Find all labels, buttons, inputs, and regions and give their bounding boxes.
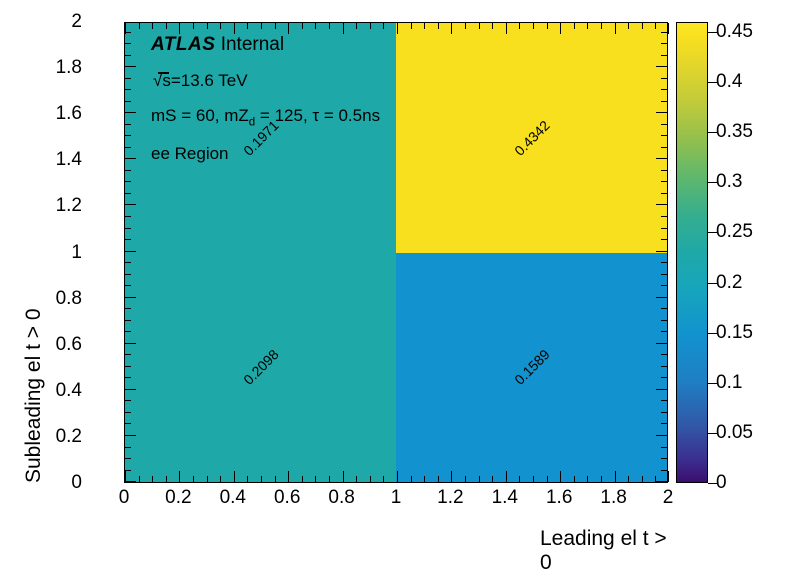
y-tick-right-minor: [661, 55, 667, 56]
x-tick-minor: [601, 476, 602, 482]
y-tick-right-minor: [661, 320, 667, 321]
x-tick-label: 0.8: [328, 487, 354, 509]
atlas-status: Internal: [221, 34, 284, 55]
y-tick-minor: [125, 193, 131, 194]
y-tick-right-minor: [661, 170, 667, 171]
y-tick-right-minor: [661, 43, 667, 44]
x-tick-minor: [166, 476, 167, 482]
x-tick-top-minor: [247, 23, 248, 29]
x-tick-minor: [329, 476, 330, 482]
y-tick-right-minor: [661, 228, 667, 229]
y-tick-label: 0.2: [56, 426, 82, 448]
x-tick-top-minor: [166, 23, 167, 29]
colorbar-tick-label: 0.05: [716, 422, 753, 444]
y-tick-minor: [125, 308, 131, 309]
y-tick-minor: [125, 447, 131, 448]
chart-canvas: Subleading el t > 0 0 0.2 0.4 0.6 0.8 1 …: [0, 0, 796, 572]
x-tick-top-minor: [193, 23, 194, 29]
x-tick-label: 1.8: [600, 487, 626, 509]
x-tick-label: 2: [663, 487, 674, 509]
y-tick-major: [125, 251, 136, 252]
y-tick-right-major: [656, 204, 667, 205]
y-tick-right-major: [656, 112, 667, 113]
y-tick-major: [125, 343, 136, 344]
x-tick-minor: [383, 476, 384, 482]
x-tick-minor: [465, 476, 466, 482]
x-tick-minor: [152, 476, 153, 482]
y-tick-minor: [125, 124, 131, 125]
y-tick-minor: [125, 366, 131, 367]
x-tick-minor: [533, 476, 534, 482]
y-tick-minor: [125, 400, 131, 401]
y-tick-minor: [125, 320, 131, 321]
x-tick-top-major: [560, 23, 561, 34]
y-tick-right-major: [656, 66, 667, 67]
signal-model-prefix: mS = 60, mZ: [151, 106, 249, 125]
x-tick-top-major: [668, 23, 669, 34]
y-tick-label: 1.8: [56, 57, 82, 79]
signal-model-rest: = 125, τ = 0.5ns: [255, 106, 380, 125]
y-tick-right-minor: [661, 216, 667, 217]
y-tick-right-minor: [661, 308, 667, 309]
y-tick-minor: [125, 412, 131, 413]
x-tick-minor: [247, 476, 248, 482]
x-tick-major: [615, 471, 616, 482]
x-tick-top-minor: [139, 23, 140, 29]
x-tick-top-minor: [261, 23, 262, 29]
signal-model-label: mS = 60, mZd = 125, τ = 0.5ns: [151, 107, 531, 129]
y-tick-minor: [125, 101, 131, 102]
plot-frame: 0.1971 0.4342 0.2098 0.1589 ATLAS Intern…: [124, 22, 668, 483]
y-tick-major: [125, 481, 136, 482]
y-tick-label: 1.6: [56, 103, 82, 125]
x-tick-top-major: [288, 23, 289, 34]
y-tick-minor: [125, 135, 131, 136]
y-tick-minor: [125, 228, 131, 229]
x-tick-top-minor: [152, 23, 153, 29]
y-tick-minor: [125, 377, 131, 378]
colorbar-tick-label: 0.3: [716, 171, 742, 193]
colorbar-tick-label: 0: [716, 472, 727, 494]
y-tick-right-major: [656, 481, 667, 482]
x-tick-minor: [519, 476, 520, 482]
x-tick-minor: [220, 476, 221, 482]
y-tick-minor: [125, 216, 131, 217]
y-tick-minor: [125, 181, 131, 182]
y-tick-minor: [125, 78, 131, 79]
y-tick-right-minor: [661, 331, 667, 332]
colorbar-tick-label: 0.2: [716, 272, 742, 294]
x-tick-top-minor: [302, 23, 303, 29]
x-tick-top-major: [234, 23, 235, 34]
x-tick-top-major: [615, 23, 616, 34]
x-tick-major: [288, 471, 289, 482]
colorbar-gradient: [677, 23, 707, 482]
heatmap-cell-bottom-right[interactable]: 0.1589: [396, 253, 667, 483]
y-tick-major: [125, 112, 136, 113]
x-tick-top-major: [397, 23, 398, 34]
y-tick-right-minor: [661, 377, 667, 378]
y-tick-right-minor: [661, 366, 667, 367]
y-tick-label: 0: [71, 472, 82, 494]
x-tick-minor: [356, 476, 357, 482]
x-tick-minor: [574, 476, 575, 482]
x-tick-top-minor: [424, 23, 425, 29]
x-tick-top-minor: [207, 23, 208, 29]
x-tick-major: [234, 471, 235, 482]
y-tick-right-minor: [661, 181, 667, 182]
y-tick-minor: [125, 331, 131, 332]
x-tick-minor: [642, 476, 643, 482]
colorbar-tick-label: 0.15: [716, 322, 753, 344]
x-tick-minor: [370, 476, 371, 482]
y-tick-major: [125, 158, 136, 159]
y-tick-minor: [125, 55, 131, 56]
y-tick-minor: [125, 239, 131, 240]
y-tick-label: 1: [71, 242, 82, 264]
y-tick-major: [125, 22, 136, 23]
x-tick-minor: [261, 476, 262, 482]
x-tick-minor: [302, 476, 303, 482]
y-tick-right-minor: [661, 400, 667, 401]
x-tick-top-minor: [465, 23, 466, 29]
y-tick-right-minor: [661, 89, 667, 90]
y-tick-minor: [125, 43, 131, 44]
y-tick-right-minor: [661, 135, 667, 136]
x-tick-minor: [315, 476, 316, 482]
heatmap-cell-value: 0.2098: [240, 346, 282, 388]
y-tick-right-minor: [661, 274, 667, 275]
x-tick-top-major: [451, 23, 452, 34]
y-tick-major: [125, 389, 136, 390]
annotation-block: ATLAS Internal √s=13.6 TeV mS = 60, mZd …: [151, 34, 531, 179]
y-tick-label: 0.8: [56, 288, 82, 310]
x-tick-label: 0.6: [274, 487, 300, 509]
y-tick-right-minor: [661, 423, 667, 424]
x-tick-major: [560, 471, 561, 482]
x-tick-minor: [193, 476, 194, 482]
x-tick-top-minor: [655, 23, 656, 29]
heatmap-cell-bottom-left[interactable]: 0.2098: [125, 253, 396, 483]
x-tick-top-minor: [411, 23, 412, 29]
y-tick-right-major: [656, 435, 667, 436]
x-tick-top-minor: [642, 23, 643, 29]
x-tick-minor: [424, 476, 425, 482]
sqrt-symbol: √s: [151, 71, 171, 90]
y-tick-right-minor: [661, 124, 667, 125]
colorbar[interactable]: [676, 22, 708, 483]
y-tick-label: 0.4: [56, 380, 82, 402]
x-tick-top-minor: [533, 23, 534, 29]
y-tick-right-minor: [661, 458, 667, 459]
y-tick-minor: [125, 285, 131, 286]
y-tick-minor: [125, 470, 131, 471]
x-tick-top-minor: [275, 23, 276, 29]
y-tick-major: [125, 297, 136, 298]
x-tick-top-minor: [492, 23, 493, 29]
y-tick-right-major: [656, 158, 667, 159]
x-tick-minor: [139, 476, 140, 482]
x-tick-label: 0.4: [220, 487, 246, 509]
y-tick-right-major: [656, 251, 667, 252]
energy-label: √s=13.6 TeV: [151, 72, 531, 91]
heatmap-cell-value: 0.1589: [511, 346, 553, 388]
y-tick-right-minor: [661, 101, 667, 102]
y-tick-right-major: [656, 389, 667, 390]
y-tick-right-minor: [661, 193, 667, 194]
y-tick-right-minor: [661, 447, 667, 448]
x-tick-top-minor: [329, 23, 330, 29]
x-tick-top-major: [179, 23, 180, 34]
x-tick-top-minor: [587, 23, 588, 29]
y-tick-right-major: [656, 343, 667, 344]
y-tick-right-minor: [661, 412, 667, 413]
x-tick-label: 0.2: [165, 487, 191, 509]
colorbar-tick-label: 0.1: [716, 372, 742, 394]
y-tick-right-major: [656, 22, 667, 23]
y-tick-right-minor: [661, 470, 667, 471]
x-tick-minor: [438, 476, 439, 482]
atlas-label: ATLAS Internal: [151, 34, 531, 56]
y-tick-minor: [125, 458, 131, 459]
y-tick-major: [125, 204, 136, 205]
x-tick-top-major: [506, 23, 507, 34]
x-tick-minor: [207, 476, 208, 482]
x-tick-top-major: [343, 23, 344, 34]
x-axis-title: Leading el t > 0: [540, 527, 668, 575]
x-tick-label: 1: [391, 487, 402, 509]
x-tick-top-minor: [383, 23, 384, 29]
y-tick-right-minor: [661, 147, 667, 148]
y-axis-title: Subleading el t > 0: [22, 22, 46, 483]
x-tick-major: [506, 471, 507, 482]
y-tick-label: 0.6: [56, 334, 82, 356]
x-tick-label: 1.2: [437, 487, 463, 509]
x-tick-top-minor: [601, 23, 602, 29]
y-tick-major: [125, 66, 136, 67]
y-tick-minor: [125, 147, 131, 148]
y-tick-label: 1.2: [56, 195, 82, 217]
energy-value: =13.6 TeV: [171, 71, 248, 90]
y-tick-minor: [125, 262, 131, 263]
y-tick-right-minor: [661, 262, 667, 263]
y-tick-right-major: [656, 297, 667, 298]
x-tick-label: 1.6: [546, 487, 572, 509]
x-tick-top-minor: [315, 23, 316, 29]
x-tick-major: [343, 471, 344, 482]
x-tick-top-minor: [519, 23, 520, 29]
x-tick-label: 0: [119, 487, 130, 509]
y-tick-label: 1.4: [56, 149, 82, 171]
x-tick-minor: [628, 476, 629, 482]
x-tick-minor: [479, 476, 480, 482]
y-tick-minor: [125, 274, 131, 275]
y-tick-right-minor: [661, 78, 667, 79]
x-tick-major: [397, 471, 398, 482]
atlas-experiment-name: ATLAS: [151, 34, 215, 55]
colorbar-tick-label: 0.25: [716, 221, 753, 243]
x-tick-top-minor: [479, 23, 480, 29]
y-tick-right-minor: [661, 32, 667, 33]
x-tick-minor: [547, 476, 548, 482]
x-tick-minor: [275, 476, 276, 482]
colorbar-tick-label: 0.35: [716, 121, 753, 143]
x-tick-top-minor: [628, 23, 629, 29]
y-tick-minor: [125, 170, 131, 171]
x-tick-top-minor: [574, 23, 575, 29]
x-tick-minor: [492, 476, 493, 482]
y-tick-right-minor: [661, 354, 667, 355]
x-tick-top-minor: [547, 23, 548, 29]
x-tick-major: [451, 471, 452, 482]
y-tick-minor: [125, 423, 131, 424]
x-tick-minor: [411, 476, 412, 482]
y-tick-minor: [125, 32, 131, 33]
x-tick-top-minor: [220, 23, 221, 29]
y-tick-minor: [125, 354, 131, 355]
y-tick-label: 2: [71, 11, 82, 33]
y-tick-right-minor: [661, 285, 667, 286]
colorbar-tick-label: 0.4: [716, 71, 742, 93]
x-tick-label: 1.4: [492, 487, 518, 509]
x-tick-major: [179, 471, 180, 482]
x-tick-major: [668, 471, 669, 482]
region-label: ee Region: [151, 145, 531, 164]
colorbar-tick-label: 0.45: [716, 21, 753, 43]
x-tick-top-minor: [370, 23, 371, 29]
energy-prefix: s: [162, 71, 171, 90]
y-tick-minor: [125, 89, 131, 90]
x-tick-top-minor: [438, 23, 439, 29]
y-tick-right-minor: [661, 239, 667, 240]
x-tick-top-minor: [356, 23, 357, 29]
x-tick-minor: [587, 476, 588, 482]
y-tick-major: [125, 435, 136, 436]
